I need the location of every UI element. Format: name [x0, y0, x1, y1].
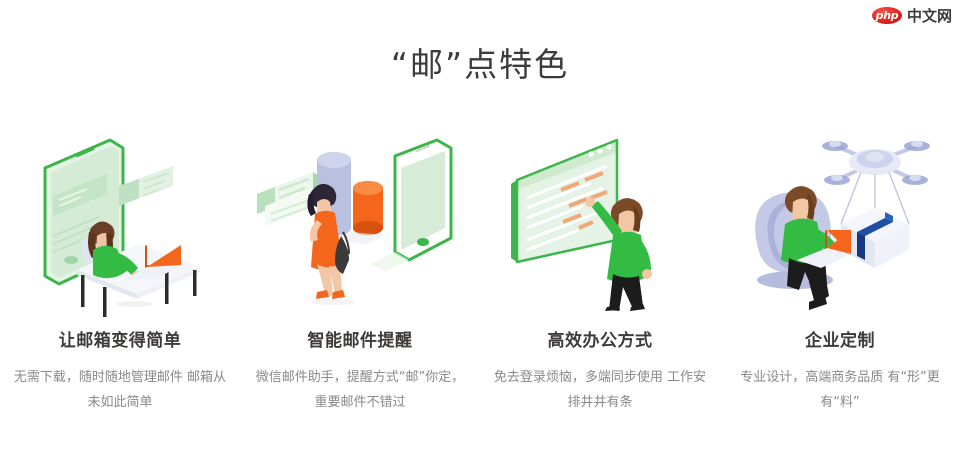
man-browser-panel-illustration	[495, 132, 705, 312]
feature-description: 专业设计，高端商务品质 有“形”更有“料”	[733, 365, 948, 415]
feature-title: 让邮箱变得简单	[59, 326, 182, 351]
feature-card-1[interactable]: 让邮箱变得简单 无需下载，随时随地管理邮件 邮箱从未如此简单	[0, 132, 240, 415]
feature-description: 无需下载，随时随地管理邮件 邮箱从未如此简单	[13, 365, 228, 415]
feature-card-3[interactable]: 高效办公方式 免去登录烦恼，多端同步使用 工作安排井井有条	[480, 132, 720, 415]
watermark-site-name: 中文网	[907, 5, 952, 26]
page-title: “邮”点特色	[0, 38, 960, 86]
phone-desk-laptop-illustration	[15, 132, 225, 312]
feature-title: 高效办公方式	[548, 326, 653, 351]
feature-section-page: php 中文网 “邮”点特色	[0, 0, 960, 463]
site-watermark: php 中文网	[872, 5, 952, 26]
feature-description: 微信邮件助手，提醒方式“邮”你定，重要邮件不错过	[253, 365, 468, 415]
php-logo-icon: php	[872, 7, 902, 24]
feature-card-2[interactable]: 智能邮件提醒 微信邮件助手，提醒方式“邮”你定，重要邮件不错过	[240, 132, 480, 415]
feature-title: 企业定制	[805, 326, 875, 351]
feature-columns: 让邮箱变得简单 无需下载，随时随地管理邮件 邮箱从未如此简单	[0, 132, 960, 415]
feature-title: 智能邮件提醒	[308, 326, 413, 351]
woman-charts-phone-illustration	[255, 132, 465, 312]
feature-card-4[interactable]: 企业定制 专业设计，高端商务品质 有“形”更有“料”	[720, 132, 960, 415]
beanbag-drone-delivery-illustration	[735, 132, 945, 312]
feature-description: 免去登录烦恼，多端同步使用 工作安排井井有条	[493, 365, 708, 415]
